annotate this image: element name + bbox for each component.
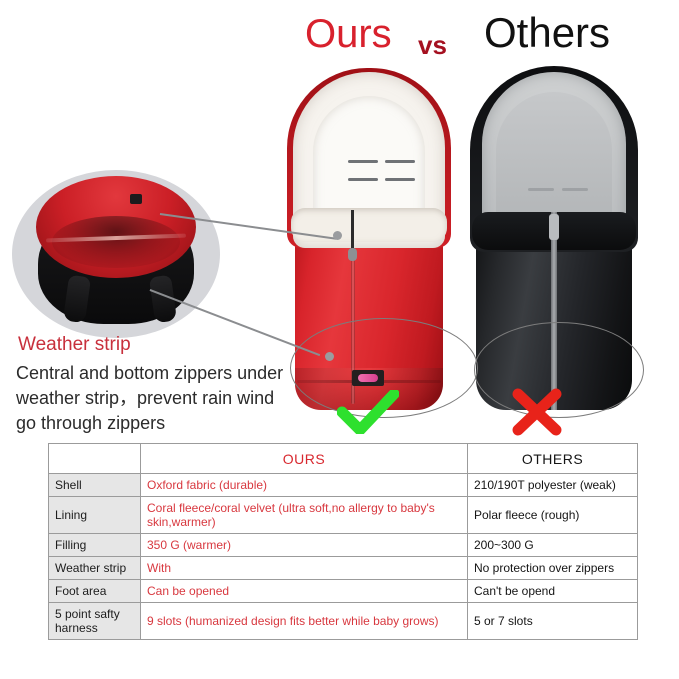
row-others-foot-area: Can't be opend — [468, 580, 638, 603]
others-harness-slot-2 — [562, 188, 588, 191]
weather-strip-description: Central and bottom zippers under weather… — [16, 361, 288, 436]
others-zipper-pull — [549, 214, 559, 240]
headline-others: Others — [484, 10, 610, 56]
header-ours: OURS — [141, 444, 468, 474]
others-harness-slot-1 — [528, 188, 554, 191]
row-label-foot-area: Foot area — [49, 580, 141, 603]
red-cross-icon — [512, 388, 562, 436]
row-others-harness: 5 or 7 slots — [468, 603, 638, 640]
green-check-icon — [337, 390, 399, 434]
table-row: Shell Oxford fabric (durable) 210/190T p… — [49, 474, 638, 497]
ours-harness-slot-4 — [385, 178, 415, 181]
leader-endpoint-top — [333, 231, 342, 240]
headline-vs: vs — [418, 30, 447, 60]
ours-harness-slot-2 — [385, 160, 415, 163]
ours-zipper-pull — [348, 248, 357, 261]
row-ours-filling: 350 G (warmer) — [141, 534, 468, 557]
comparison-infographic: Ours vs Others — [0, 0, 679, 679]
leader-endpoint-bottom — [325, 352, 334, 361]
row-label-shell: Shell — [49, 474, 141, 497]
row-label-weather-strip: Weather strip — [49, 557, 141, 580]
table-row: 5 point safty harness 9 slots (humanized… — [49, 603, 638, 640]
weather-strip-label: Weather strip — [18, 333, 131, 357]
row-others-lining: Polar fleece (rough) — [468, 497, 638, 534]
inset-red-interior — [36, 176, 196, 278]
row-label-filling: Filling — [49, 534, 141, 557]
ours-harness-slot-3 — [348, 178, 378, 181]
row-others-filling: 200~300 G — [468, 534, 638, 557]
row-label-lining: Lining — [49, 497, 141, 534]
row-ours-shell: Oxford fabric (durable) — [141, 474, 468, 497]
inset-zipper-detail — [130, 194, 142, 204]
row-ours-lining: Coral fleece/coral velvet (ultra soft,no… — [141, 497, 468, 534]
header-blank — [49, 444, 141, 474]
row-ours-foot-area: Can be opened — [141, 580, 468, 603]
ours-fleece-cuff — [291, 208, 447, 242]
table-row: Filling 350 G (warmer) 200~300 G — [49, 534, 638, 557]
row-others-shell: 210/190T polyester (weak) — [468, 474, 638, 497]
ours-zipper-tape — [351, 210, 354, 252]
comparison-table: OURS OTHERS Shell Oxford fabric (durable… — [48, 443, 638, 640]
ours-harness-slot-1 — [348, 160, 378, 163]
detail-inset-weather-strip — [12, 170, 220, 338]
row-label-harness: 5 point safty harness — [49, 603, 141, 640]
row-others-weather-strip: No protection over zippers — [468, 557, 638, 580]
row-ours-harness: 9 slots (humanized design fits better wh… — [141, 603, 468, 640]
table-row: Weather strip With No protection over zi… — [49, 557, 638, 580]
table-row: Foot area Can be opened Can't be opend — [49, 580, 638, 603]
table-header-row: OURS OTHERS — [49, 444, 638, 474]
row-ours-weather-strip: With — [141, 557, 468, 580]
headline-ours: Ours — [305, 12, 392, 56]
header-others: OTHERS — [468, 444, 638, 474]
table-row: Lining Coral fleece/coral velvet (ultra … — [49, 497, 638, 534]
